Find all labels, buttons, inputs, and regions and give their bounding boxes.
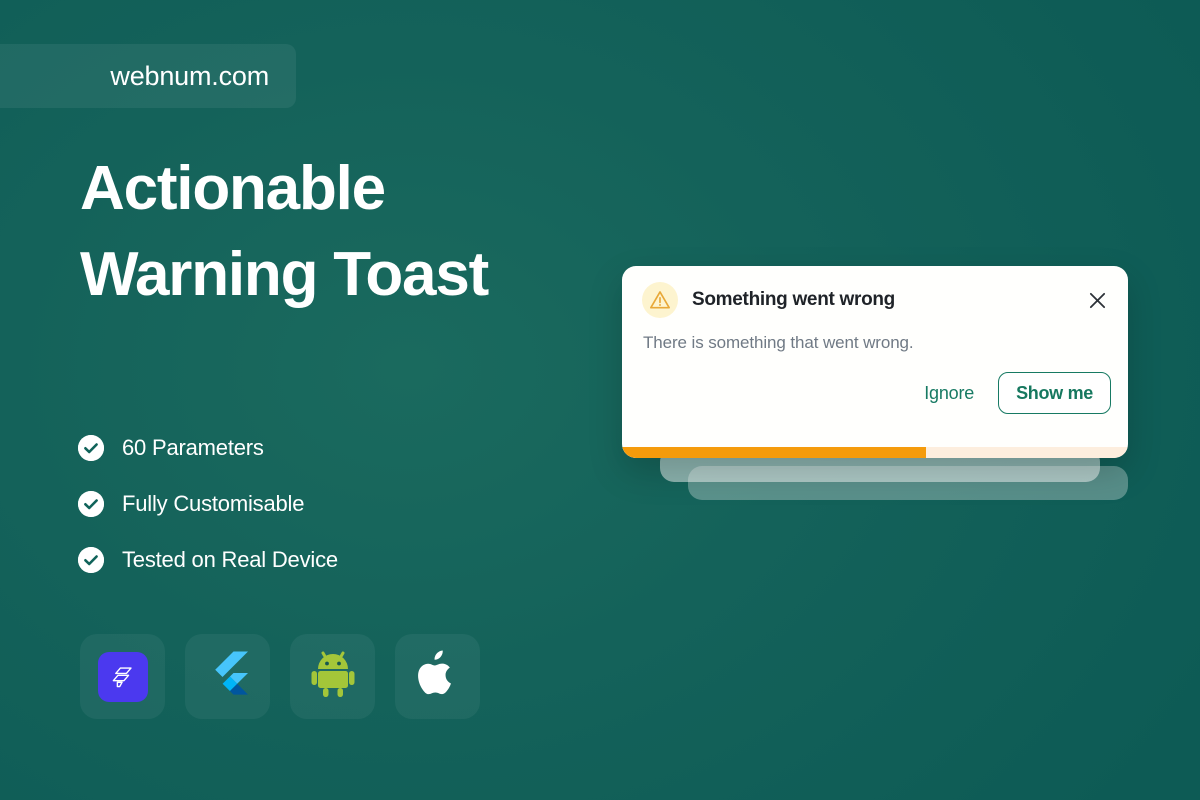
close-icon[interactable]: [1082, 285, 1112, 315]
brand-badge: webnum.com: [0, 44, 296, 108]
platform-tile-flutter: [185, 634, 270, 719]
toast-title: Something went wrong: [692, 289, 895, 311]
feature-list: 60 Parameters Fully Customisable Tested …: [78, 420, 558, 588]
brand-name: webnum.com: [110, 61, 269, 92]
list-item: Fully Customisable: [78, 476, 558, 532]
warning-triangle-icon: [642, 282, 678, 318]
check-circle-icon: [78, 435, 104, 461]
show-me-button[interactable]: Show me: [998, 372, 1111, 414]
toast-header: Something went wrong: [642, 282, 1112, 318]
warning-toast: Something went wrong There is something …: [622, 266, 1128, 458]
flutterflow-icon: [98, 652, 148, 702]
ignore-button[interactable]: Ignore: [922, 377, 976, 410]
headline-line-2: Warning Toast: [80, 232, 640, 318]
check-circle-icon: [78, 491, 104, 517]
toast-stack: Something went wrong There is something …: [622, 266, 1128, 506]
toast-ghost-card-2: [688, 466, 1128, 500]
toast-progress-track: [622, 447, 1128, 458]
apple-icon: [418, 650, 458, 703]
headline-line-1: Actionable: [80, 146, 640, 232]
toast-progress-fill: [622, 447, 926, 458]
feature-label: 60 Parameters: [122, 435, 264, 461]
page-title: Actionable Warning Toast: [80, 146, 640, 318]
platform-badges: [80, 634, 480, 719]
toast-actions: Ignore Show me: [922, 372, 1111, 414]
flutter-icon: [207, 650, 249, 703]
platform-tile-ios: [395, 634, 480, 719]
toast-message: There is something that went wrong.: [643, 333, 914, 353]
android-icon: [311, 650, 355, 703]
list-item: Tested on Real Device: [78, 532, 558, 588]
promo-canvas: webnum.com Actionable Warning Toast 60 P…: [0, 0, 1200, 800]
list-item: 60 Parameters: [78, 420, 558, 476]
check-circle-icon: [78, 547, 104, 573]
platform-tile-android: [290, 634, 375, 719]
feature-label: Tested on Real Device: [122, 547, 338, 573]
feature-label: Fully Customisable: [122, 491, 304, 517]
platform-tile-flutterflow: [80, 634, 165, 719]
